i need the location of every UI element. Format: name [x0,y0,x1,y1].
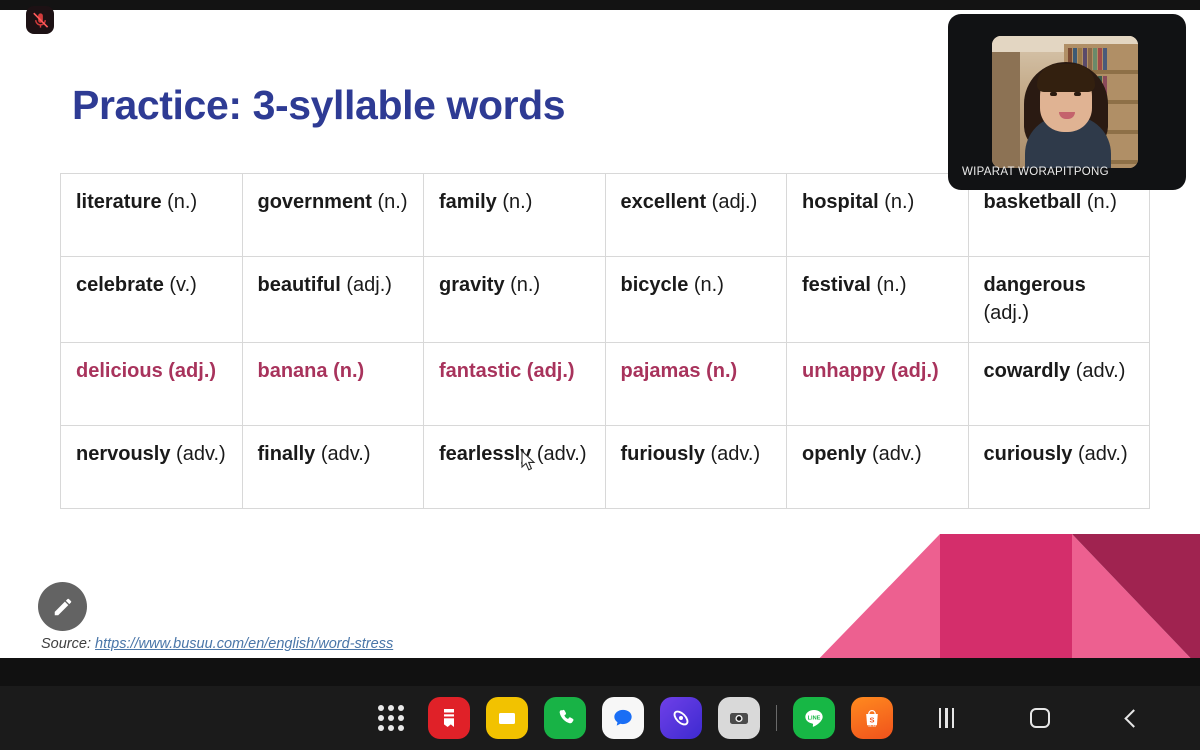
word-cell: furiously (adv.) [605,425,787,508]
svg-text:11.11: 11.11 [868,724,876,728]
word-cell: celebrate (v.) [61,257,243,343]
word-cell: curiously (adv.) [968,425,1150,508]
word-cell: cowardly (adv.) [968,342,1150,425]
part-of-speech: (n.) [871,274,907,296]
word-text: basketball [984,191,1082,213]
device-screen: Practice: 3-syllable words literature (n… [0,0,1200,750]
word-cell: openly (adv.) [787,425,969,508]
navigation-bar [900,686,1180,750]
word-cell: pajamas (n.) [605,342,787,425]
part-of-speech: (v.) [164,274,197,296]
line-glyph: LINE [801,705,827,731]
word-cell: hospital (n.) [787,174,969,257]
word-text: bicycle [621,274,689,296]
notes-glyph [437,706,461,730]
word-text: government [258,191,372,213]
folder-glyph [495,706,519,730]
word-cell: excellent (adj.) [605,174,787,257]
my-files-icon[interactable] [486,697,528,739]
table-row: nervously (adv.)finally (adv.)fearlessly… [61,425,1150,508]
part-of-speech: (adv.) [170,443,225,465]
word-text: fantastic [439,360,521,382]
chat-bubble-glyph [610,705,636,731]
part-of-speech: (n.) [505,274,541,296]
recents-button[interactable] [924,698,970,738]
word-cell: fearlessly (adv.) [424,425,606,508]
part-of-speech: (adv.) [705,443,760,465]
participant-name-label: WIPARAT WORAPITPONG [962,166,1109,178]
part-of-speech: (adj.) [163,360,216,382]
word-cell: government (n.) [242,174,424,257]
home-button[interactable] [1017,698,1063,738]
svg-text:LINE: LINE [808,716,821,722]
word-cell: bicycle (n.) [605,257,787,343]
word-cell: dangerous (adj.) [968,257,1150,343]
word-cell: delicious (adj.) [61,342,243,425]
word-text: festival [802,274,871,296]
word-text: excellent [621,191,707,213]
word-text: curiously [984,443,1073,465]
word-cell: banana (n.) [242,342,424,425]
block-pink-mid-icon [940,534,1072,658]
word-cell: gravity (n.) [424,257,606,343]
part-of-speech: (adj.) [521,360,574,382]
samsung-internet-icon[interactable] [660,697,702,739]
part-of-speech: (n.) [497,191,533,213]
samsung-notes-icon[interactable] [428,697,470,739]
word-text: furiously [621,443,705,465]
app-dock: LINE S 11.11 [370,686,893,750]
mouse-cursor [521,450,537,472]
word-text: unhappy [802,360,885,382]
word-text: hospital [802,191,879,213]
word-text: dangerous [984,274,1086,296]
part-of-speech: (n.) [688,274,724,296]
pencil-glyph [52,596,74,618]
word-cell: finally (adv.) [242,425,424,508]
word-text: cowardly [984,360,1071,382]
android-taskbar: LINE S 11.11 [0,686,1200,750]
triangle-maroon-icon [1072,534,1200,658]
phone-glyph [553,706,577,730]
triangle-pink-light-icon [810,534,940,658]
part-of-speech: (adj.) [706,191,757,213]
part-of-speech: (adv.) [866,443,921,465]
part-of-speech: (adv.) [1070,360,1125,382]
participant-eye-right [1074,92,1081,96]
part-of-speech: (adv.) [1072,443,1127,465]
phone-icon[interactable] [544,697,586,739]
page-title: Practice: 3-syllable words [72,82,565,129]
part-of-speech: (n.) [879,191,915,213]
part-of-speech: (adj.) [984,302,1030,324]
word-text: delicious [76,360,163,382]
participant-eye-left [1050,92,1057,96]
word-cell: fantastic (adj.) [424,342,606,425]
part-of-speech: (n.) [328,360,365,382]
source-label: Source: [41,636,91,652]
video-feed [992,36,1138,168]
dock-divider [776,705,777,731]
decorative-shapes [790,510,1200,658]
door-panel [992,52,1020,168]
word-text: openly [802,443,866,465]
word-text: literature [76,191,162,213]
part-of-speech: (adj.) [885,360,938,382]
word-text: family [439,191,497,213]
word-cell: beautiful (adj.) [242,257,424,343]
source-link[interactable]: https://www.busuu.com/en/english/word-st… [95,636,393,652]
table-row: delicious (adj.)banana (n.)fantastic (ad… [61,342,1150,425]
back-button[interactable] [1110,698,1156,738]
shopee-bag-glyph: S 11.11 [860,706,884,730]
participant-fringe [1037,64,1095,92]
word-cell: nervously (adv.) [61,425,243,508]
camera-glyph [727,706,751,730]
word-text: pajamas [621,360,701,382]
word-text: gravity [439,274,505,296]
word-text: nervously [76,443,170,465]
word-text: beautiful [258,274,341,296]
video-participant-tile[interactable]: WIPARAT WORAPITPONG [948,14,1186,190]
letterbox-top [0,0,1200,10]
source-credit: Source: https://www.busuu.com/en/english… [41,636,393,652]
shopee-icon[interactable]: S 11.11 [851,697,893,739]
all-apps-grid-icon[interactable] [370,697,412,739]
table-row: celebrate (v.)beautiful (adj.)gravity (n… [61,257,1150,343]
messages-icon[interactable] [602,697,644,739]
word-cell: literature (n.) [61,174,243,257]
browser-glyph [669,706,693,730]
line-icon[interactable]: LINE [793,697,835,739]
part-of-speech: (n.) [372,191,408,213]
word-cell: family (n.) [424,174,606,257]
word-text: finally [258,443,316,465]
word-text: banana [258,360,328,382]
word-table: literature (n.)government (n.)family (n.… [60,173,1150,509]
camera-icon[interactable] [718,697,760,739]
part-of-speech: (adj.) [341,274,392,296]
part-of-speech: (adv.) [315,443,370,465]
part-of-speech: (adv.) [531,443,586,465]
word-text: fearlessly [439,443,531,465]
pencil-icon[interactable] [38,582,87,631]
part-of-speech: (n.) [162,191,198,213]
microphone-muted-icon[interactable] [26,6,54,34]
part-of-speech: (n.) [1081,191,1117,213]
part-of-speech: (n.) [701,360,738,382]
word-text: celebrate [76,274,164,296]
word-cell: festival (n.) [787,257,969,343]
word-cell: unhappy (adj.) [787,342,969,425]
microphone-muted-glyph [31,11,50,30]
